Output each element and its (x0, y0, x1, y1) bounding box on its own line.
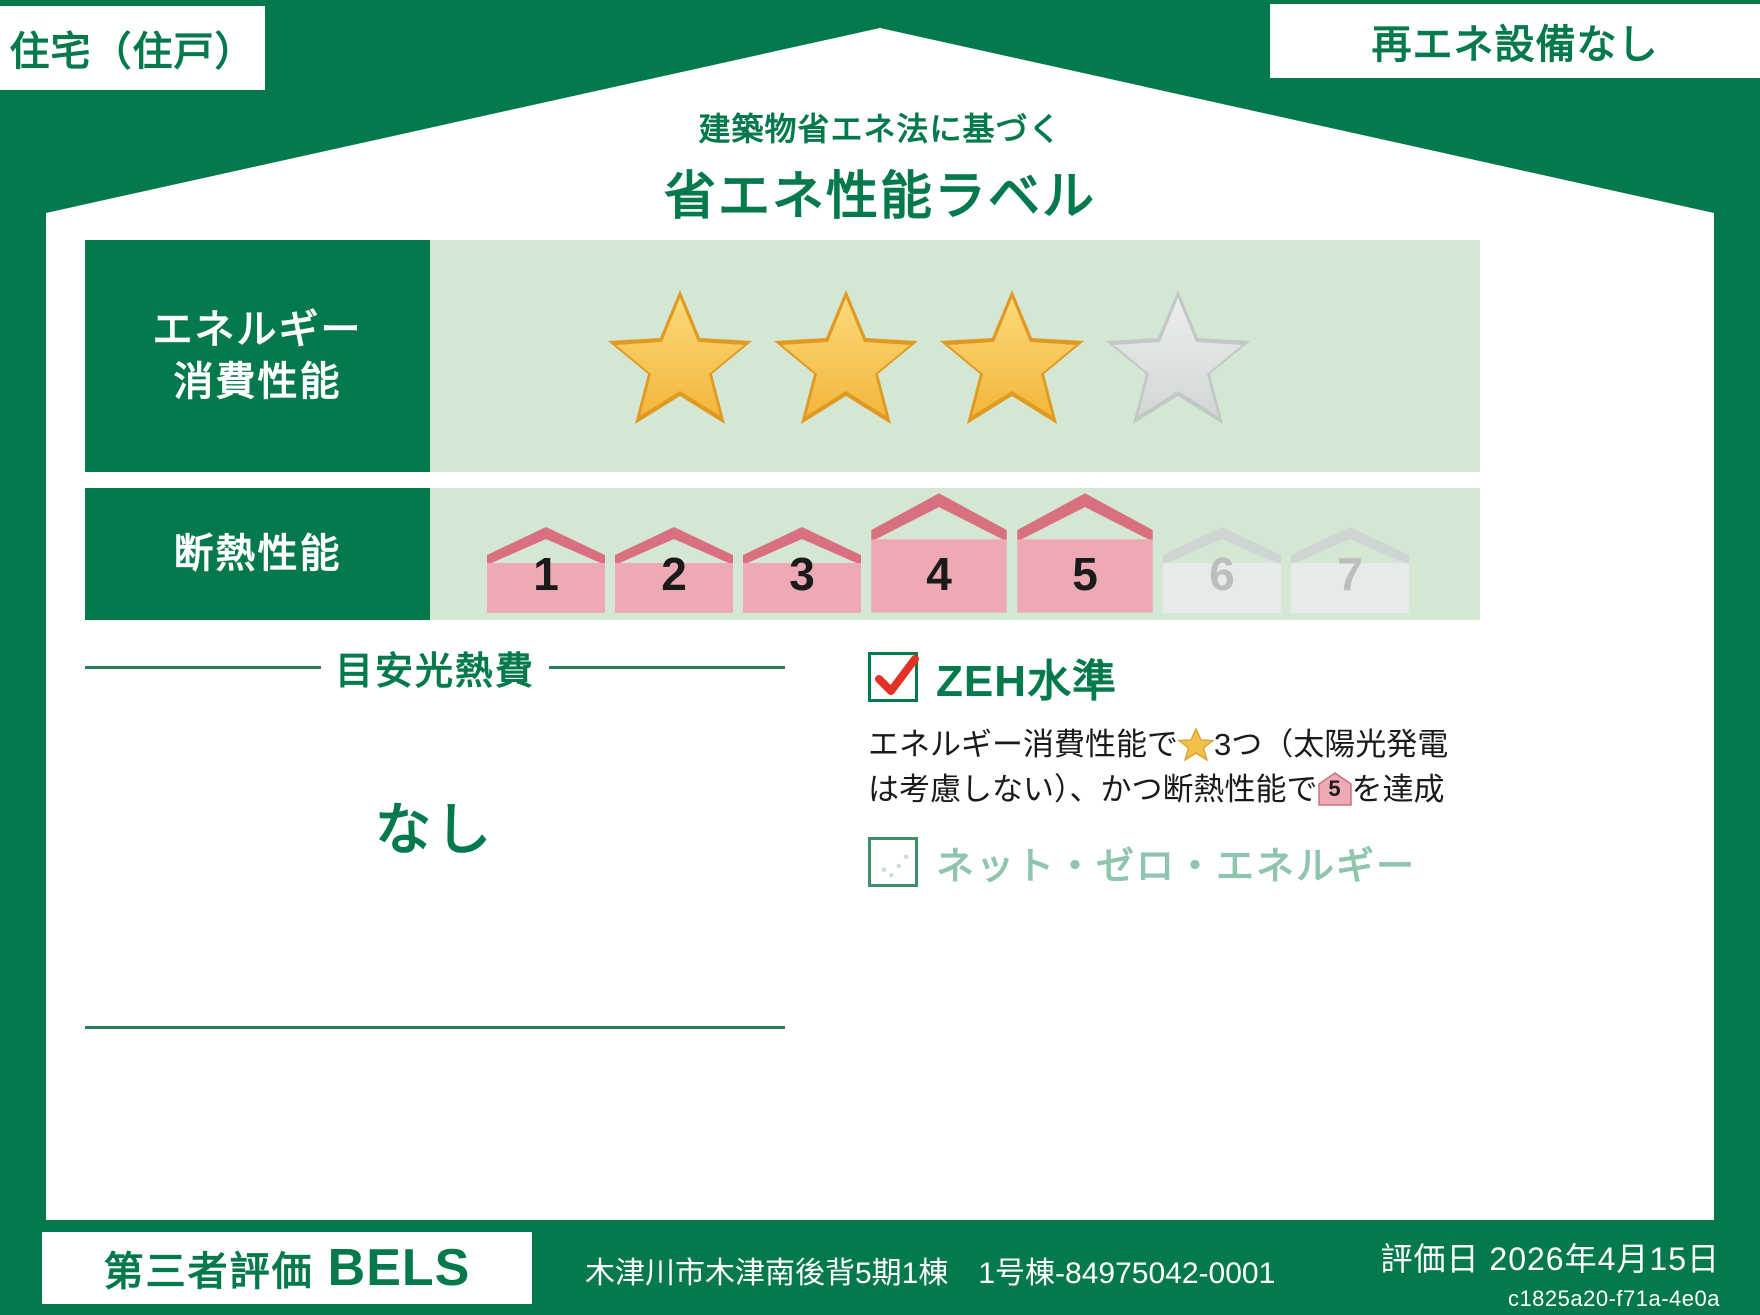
badge-building-type: 住宅（住戸） (0, 6, 265, 90)
title-subtitle: 建築物省エネ法に基づく (0, 104, 1760, 150)
label-title: 建築物省エネ法に基づく 省エネ性能ラベル (0, 104, 1760, 229)
energy-label-line2: 消費性能 (174, 356, 342, 408)
inline-house-icon: 5 (1318, 771, 1352, 807)
insulation-level-on: 5 (1015, 491, 1155, 617)
utility-cost-heading: 目安光熱費 (85, 640, 785, 695)
net-zero-energy-row: ネット・ゼロ・エネルギー (868, 835, 1488, 890)
utility-cost-bottom-rule (85, 1026, 785, 1029)
title-main: 省エネ性能ラベル (0, 154, 1760, 229)
insulation-level-off: 7 (1289, 525, 1411, 617)
insulation-scale: 1234567 (485, 491, 1411, 617)
energy-performance-value (430, 240, 1480, 472)
zeh-title: ZEH水準 (936, 645, 1117, 709)
zeh-standard-row: ZEH水準 (868, 645, 1488, 709)
zeh-block: ZEH水準 エネルギー消費性能で3つ（太陽光発電 は考慮しない）、かつ断熱性能で… (868, 645, 1488, 890)
insulation-level-number: 1 (485, 547, 607, 601)
insulation-level-on: 2 (613, 525, 735, 617)
evaluation-date-block: 評価日 2026年4月15日 c1825a20-f71a-4e0a (1381, 1234, 1721, 1312)
insulation-level-number: 7 (1289, 547, 1411, 601)
energy-performance-label: エネルギー 消費性能 (85, 240, 430, 472)
bels-logo: BELS (328, 1238, 471, 1298)
badge-renewable-energy: 再エネ設備なし (1270, 4, 1760, 78)
zeh-description: エネルギー消費性能で3つ（太陽光発電 は考慮しない）、かつ断熱性能で5を達成 (868, 723, 1488, 813)
insulation-level-number: 3 (741, 547, 863, 601)
dotted-check-icon (871, 840, 921, 890)
insulation-level-number: 6 (1161, 547, 1283, 601)
star-filled (937, 284, 1087, 429)
insulation-performance-row: 断熱性能 1234567 (85, 488, 1480, 620)
label-id: c1825a20-f71a-4e0a (1381, 1286, 1721, 1312)
net-zero-checkbox[interactable] (868, 837, 918, 887)
evaluation-date: 評価日 2026年4月15日 (1381, 1234, 1721, 1280)
insulation-performance-value: 1234567 (430, 488, 1480, 620)
inline-star-icon (1178, 727, 1214, 761)
star-filled (771, 284, 921, 429)
evaluation-date-label: 評価日 (1381, 1241, 1480, 1277)
rule-left (85, 666, 321, 669)
bels-badge: 第三者評価 BELS (42, 1232, 532, 1304)
insulation-level-on: 4 (869, 491, 1009, 617)
performance-rows: エネルギー 消費性能 断熱性能 1234567 (85, 240, 1480, 636)
star-empty (1103, 284, 1253, 429)
energy-label-line1: エネルギー (153, 304, 363, 356)
net-zero-label: ネット・ゼロ・エネルギー (936, 835, 1416, 890)
insulation-level-off: 6 (1161, 525, 1283, 617)
bels-jp-label: 第三者評価 (104, 1239, 314, 1297)
utility-cost-title: 目安光熱費 (335, 640, 535, 695)
insulation-performance-label: 断熱性能 (85, 488, 430, 620)
property-address: 木津川市木津南後背5期1棟 1号棟-84975042-0001 (585, 1248, 1275, 1292)
zeh-desc-part1: エネルギー消費性能で (868, 727, 1178, 762)
insulation-level-number: 2 (613, 547, 735, 601)
utility-cost-block: 目安光熱費 なし (85, 640, 785, 1029)
bels-label: 住宅（住戸） 再エネ設備なし 建築物省エネ法に基づく 省エネ性能ラベル エネルギ… (0, 0, 1760, 1315)
zeh-checkbox[interactable] (868, 652, 918, 702)
energy-performance-row: エネルギー 消費性能 (85, 240, 1480, 472)
insulation-level-number: 5 (1015, 547, 1155, 601)
insulation-level-on: 1 (485, 525, 607, 617)
utility-cost-value: なし (85, 785, 785, 866)
insulation-level-number: 4 (869, 547, 1009, 601)
evaluation-date-value: 2026年4月15日 (1489, 1241, 1720, 1277)
zeh-desc-part2: は考慮しない）、かつ断熱性能で (868, 772, 1318, 807)
star-rating (605, 284, 1253, 429)
star-filled (605, 284, 755, 429)
inline-house-number: 5 (1318, 771, 1352, 807)
zeh-desc-stars: 3つ（太陽光発電 (1214, 727, 1448, 762)
rule-right (549, 666, 785, 669)
footer: 第三者評価 BELS 木津川市木津南後背5期1棟 1号棟-84975042-00… (0, 1220, 1760, 1315)
insulation-level-on: 3 (741, 525, 863, 617)
check-icon (869, 651, 923, 705)
zeh-desc-part3: を達成 (1352, 772, 1445, 807)
